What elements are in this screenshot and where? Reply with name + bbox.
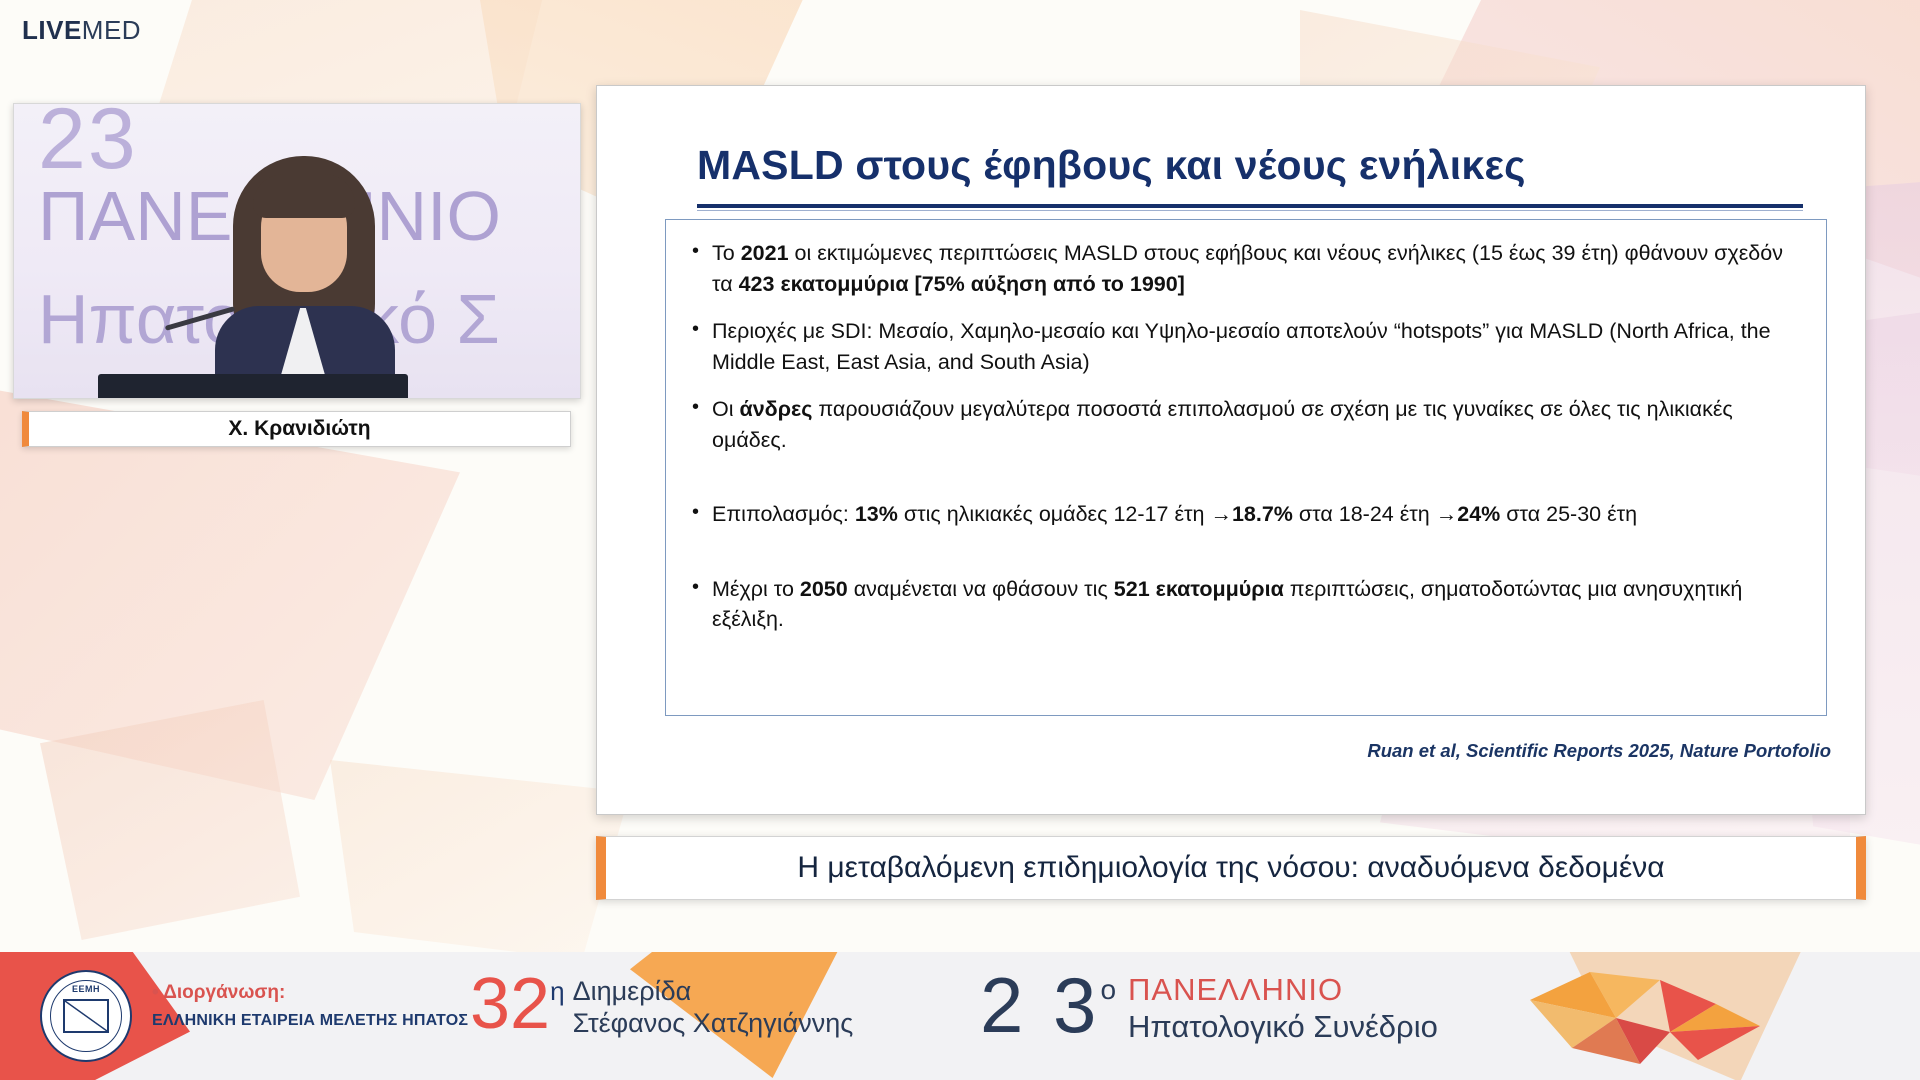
slide-panel[interactable]: MASLD στους έφηβους και νέους ενήλικες Τ… (596, 85, 1866, 815)
session-title: Η μεταβαλόμενη επιδημιολογία της νόσου: … (797, 851, 1664, 885)
bullet-text: Επιπολασμός: (712, 502, 855, 526)
bullet-emphasis: 521 εκατομμύρια (1114, 577, 1284, 601)
organizer-name: ΕΛΛΗΝΙΚΗ ΕΤΑΙΡΕΙΑ ΜΕΛΕΤΗΣ ΗΠΑΤΟΣ (152, 1012, 468, 1030)
bullet-text: παρουσιάζουν μεγαλύτερα ποσοστά επιπολασ… (712, 397, 1733, 452)
bullet-text: Μέχρι το (712, 577, 800, 601)
screen: LIVEMED 23 ΠΑΝΕΛΛΗΝΙΟ Ηπατολογικό Σ Χ. Κ… (0, 0, 1920, 1080)
bullet-item: Επιπολασμός: 13% στις ηλικιακές ομάδες 1… (688, 499, 1800, 530)
slide-citation: Ruan et al, Scientific Reports 2025, Nat… (1367, 740, 1831, 762)
liver-illustration-icon (1520, 960, 1770, 1072)
laptop-icon (98, 374, 408, 399)
bullet-emphasis: 2050 (800, 577, 848, 601)
livemed-logo: LIVEMED (22, 15, 141, 46)
conference-banner: EEMH • Διοργάνωση: ΕΛΛΗΝΙΚΗ ΕΤΑΙΡΕΙΑ ΜΕΛ… (0, 952, 1920, 1080)
bullet-item: Το 2021 οι εκτιμώμενες περιπτώσεις MASLD… (688, 238, 1800, 299)
slide-title: MASLD στους έφηβους και νέους ενήλικες (697, 142, 1803, 189)
bullet-text: Το (712, 241, 741, 265)
event-32-superscript: η (550, 976, 564, 1007)
bullet-emphasis: 2021 (741, 241, 789, 265)
bullet-text: αναμένεται να φθάσουν τις (848, 577, 1114, 601)
bullet-emphasis: άνδρες (739, 397, 812, 421)
bullet-text: στα 25-30 έτη (1500, 502, 1637, 526)
event-32-number: 32 (470, 970, 550, 1038)
title-divider-thin (697, 210, 1803, 211)
bullet-item: Μέχρι το 2050 αναμένεται να φθάσουν τις … (688, 574, 1800, 635)
seal-text: EEMH (51, 984, 121, 994)
event-32-line-2: Στέφανος Χατζηγιάννης (573, 1008, 854, 1040)
bullet-item: Οι άνδρες παρουσιάζουν μεγαλύτερα ποσοστ… (688, 394, 1800, 455)
bullet-emphasis: →24% (1436, 502, 1501, 526)
bullet-text: Οι (712, 397, 739, 421)
eemh-seal-logo: EEMH (40, 970, 132, 1062)
event-23-number: 2 3 (980, 968, 1100, 1042)
title-divider (697, 204, 1803, 208)
organizer-label: • Διοργάνωση: (152, 982, 468, 1004)
bullet-list: Το 2021 οι εκτιμώμενες περιπτώσεις MASLD… (688, 238, 1800, 635)
bullet-text: στα 18-24 έτη (1293, 502, 1436, 526)
event-23-line-2: Ηπατολογικό Συνέδριο (1128, 1009, 1438, 1046)
event-23-line-1: ΠΑΝΕΛΛΗΝΙΟ (1128, 972, 1438, 1009)
session-title-bar: Η μεταβαλόμενη επιδημιολογία της νόσου: … (596, 836, 1866, 900)
organizer-block: • Διοργάνωση: ΕΛΛΗΝΙΚΗ ΕΤΑΙΡΕΙΑ ΜΕΛΕΤΗΣ … (152, 982, 468, 1030)
bullet-text: Περιοχές με SDI: Μεσαίο, Χαμηλο-μεσαίο κ… (712, 319, 1771, 374)
bullet-emphasis: 13% (855, 502, 898, 526)
bullet-emphasis: →18.7% (1210, 502, 1292, 526)
logo-live: LIVE (22, 15, 82, 45)
slide-content-box: Το 2021 οι εκτιμώμενες περιπτώσεις MASLD… (665, 219, 1827, 716)
speaker-name: Χ. Κρανιδιώτη (228, 417, 370, 441)
speaker-figure (209, 156, 399, 399)
event-32-line-1: Διημερίδα (573, 976, 854, 1008)
event-23-block: 2 3 ο ΠΑΝΕΛΛΗΝΙΟ Ηπατολογικό Συνέδριο (980, 968, 1438, 1045)
event-23-superscript: ο (1100, 974, 1116, 1006)
bullet-text: στις ηλικιακές ομάδες 12-17 έτη (898, 502, 1211, 526)
speaker-video[interactable]: 23 ΠΑΝΕΛΛΗΝΙΟ Ηπατολογικό Σ (13, 103, 581, 399)
logo-med: MED (82, 15, 141, 45)
bullet-item: Περιοχές με SDI: Μεσαίο, Χαμηλο-μεσαίο κ… (688, 316, 1800, 377)
speaker-name-bar: Χ. Κρανιδιώτη (22, 411, 571, 447)
event-32-block: 32 η Διημερίδα Στέφανος Χατζηγιάννης (470, 970, 853, 1040)
bullet-emphasis: 423 εκατομμύρια [75% αύξηση από το 1990] (739, 272, 1185, 296)
